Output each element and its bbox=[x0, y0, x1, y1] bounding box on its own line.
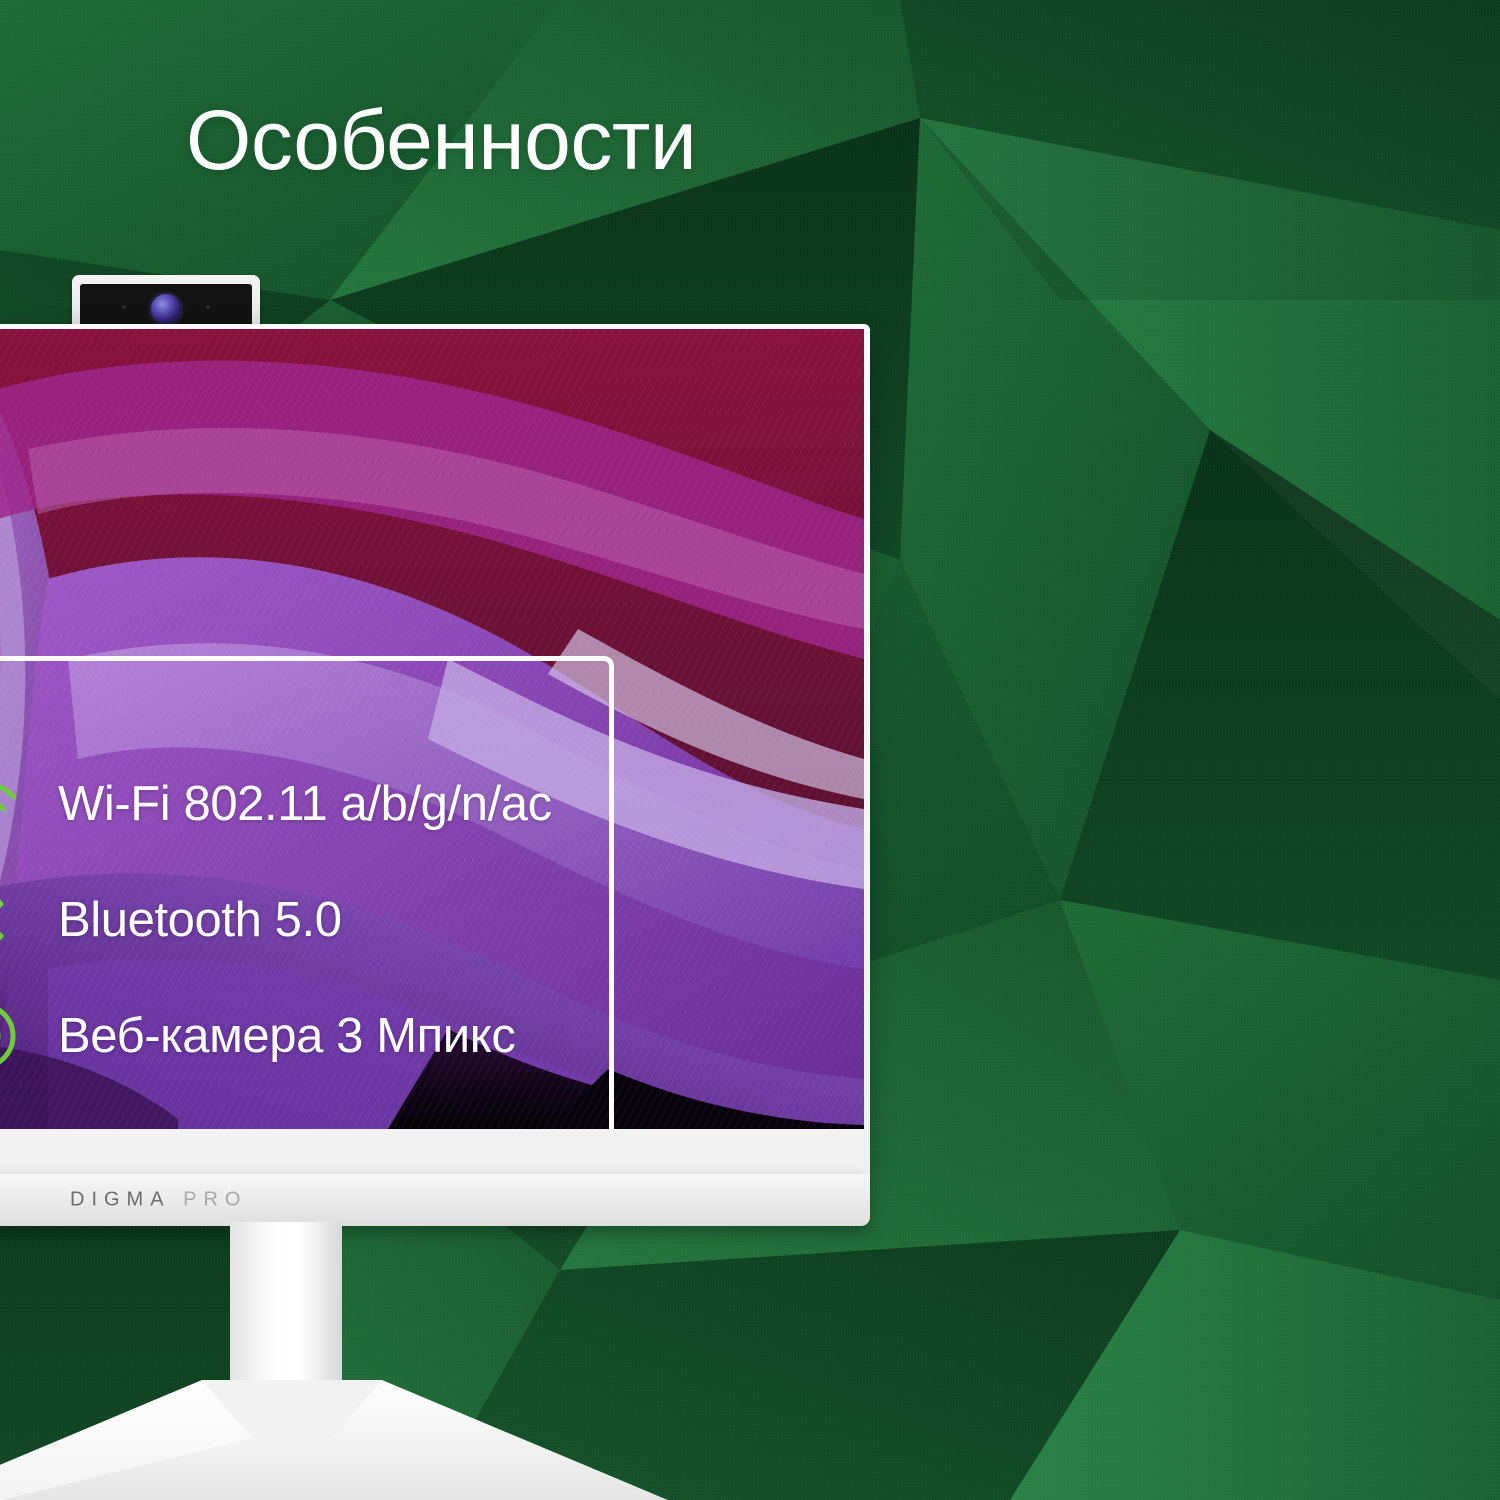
monitor-stand-neck bbox=[230, 1222, 342, 1400]
all-in-one-computer: Wi-Fi 802.11 a/b/g/n/ac Bluetooth 5.0 bbox=[0, 272, 870, 1452]
brand-logo: DIGMA PRO bbox=[70, 1189, 247, 1212]
monitor-chin: DIGMA PRO bbox=[0, 1174, 870, 1226]
promo-slide: Особенности bbox=[0, 0, 1500, 1500]
monitor-screen: Wi-Fi 802.11 a/b/g/n/ac Bluetooth 5.0 bbox=[0, 329, 864, 1129]
desktop-wallpaper bbox=[0, 329, 864, 1129]
page-title: Особенности bbox=[186, 96, 696, 184]
monitor-stand-base bbox=[0, 1380, 682, 1500]
webcam-sensor-dot-left bbox=[122, 305, 126, 309]
brand-secondary: PRO bbox=[183, 1189, 247, 1211]
webcam-module bbox=[72, 275, 260, 330]
webcam-sensor-dot-right bbox=[206, 305, 210, 309]
webcam-lens bbox=[151, 294, 181, 324]
monitor-bezel: Wi-Fi 802.11 a/b/g/n/ac Bluetooth 5.0 bbox=[0, 324, 870, 1174]
brand-primary: DIGMA bbox=[70, 1189, 171, 1211]
